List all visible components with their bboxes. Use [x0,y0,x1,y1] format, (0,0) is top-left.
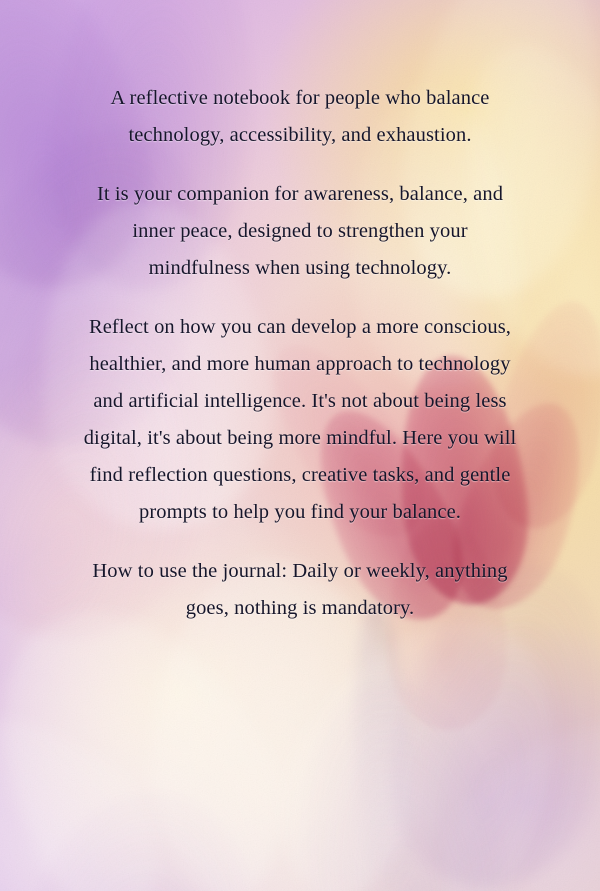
intro-text-block: A reflective notebook for people who bal… [80,80,520,627]
intro-paragraph-2: It is your companion for awareness, bala… [80,176,520,287]
lotus-petal-bottom-left-lilac [9,772,281,891]
intro-paragraph-3: Reflect on how you can develop a more co… [80,309,520,531]
intro-paragraph-1: A reflective notebook for people who bal… [80,80,520,154]
lotus-petal-bottom-left-edge [0,659,202,891]
lotus-petal-bottom-right-lilac-2 [280,668,520,891]
lotus-petal-bottom-right-edge [399,666,600,891]
journal-page: A reflective notebook for people who bal… [0,0,600,891]
lotus-petal-center-stem [347,599,419,891]
intro-paragraph-4: How to use the journal: Daily or weekly,… [80,553,520,627]
